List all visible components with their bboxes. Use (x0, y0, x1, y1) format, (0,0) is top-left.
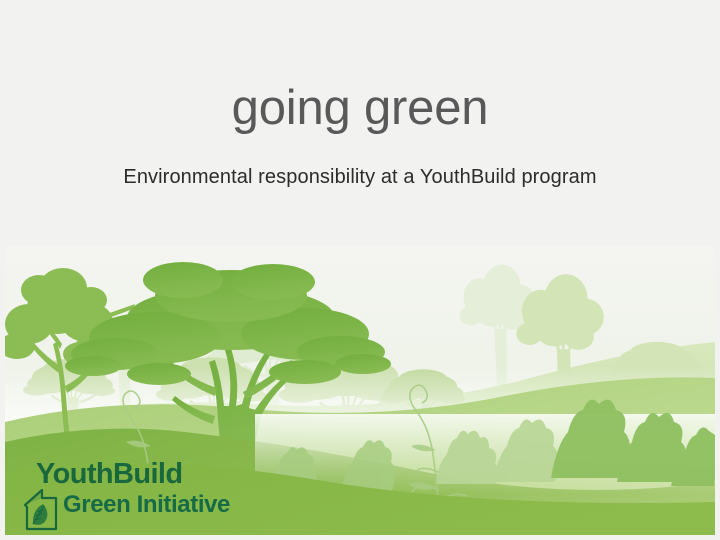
logo-tagline: Green Initiative (63, 491, 230, 519)
youthbuild-green-initiative-logo: YouthBuild Green Initiative (22, 458, 222, 532)
page-title: going green (0, 80, 720, 136)
logo-wordmark: YouthBuild (36, 458, 182, 491)
title-block: going green Environmental responsibility… (0, 0, 720, 230)
page-subtitle: Environmental responsibility at a YouthB… (0, 163, 720, 191)
presentation-slide: going green Environmental responsibility… (0, 0, 720, 540)
house-with-leaf-icon (22, 488, 68, 532)
